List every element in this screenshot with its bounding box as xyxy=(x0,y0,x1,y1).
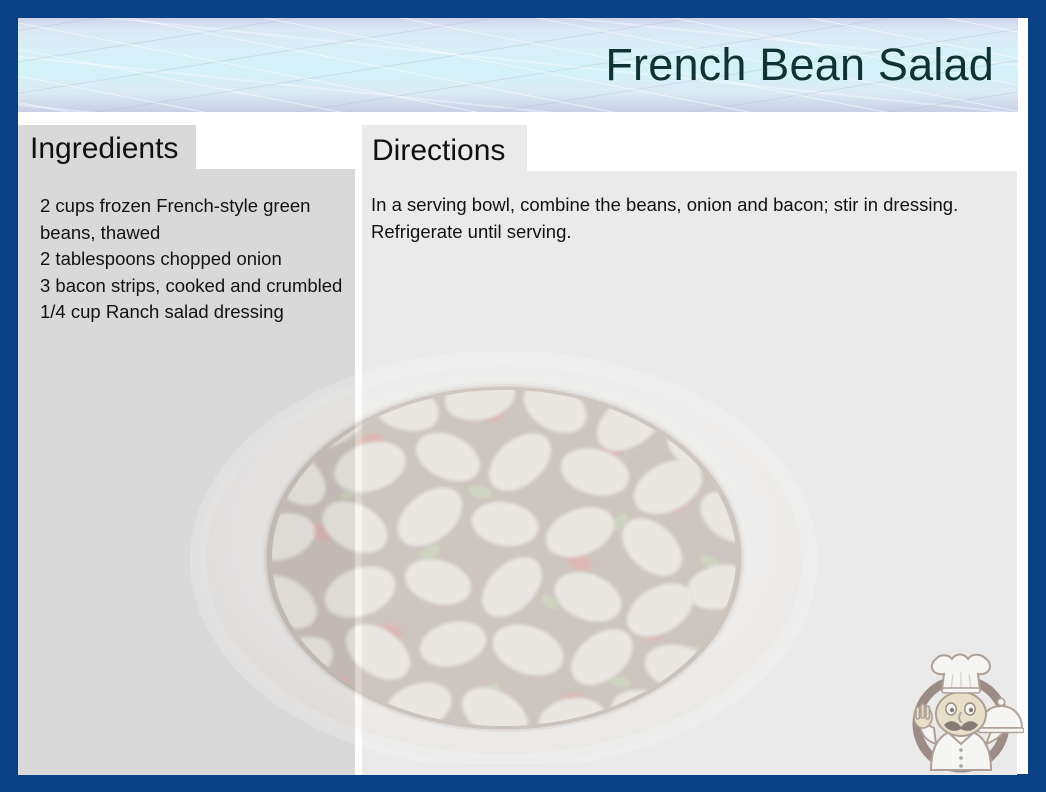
frame-border-left xyxy=(0,0,18,792)
recipe-card-slide: French Bean Salad Ingredients 2 cups fro… xyxy=(0,0,1046,792)
frame-border-bottom xyxy=(0,774,1046,792)
frame-border-top xyxy=(0,0,1046,18)
list-item: 1/4 cup Ranch salad dressing xyxy=(40,299,345,326)
list-item: 3 bacon strips, cooked and crumbled xyxy=(40,273,345,300)
page-title: French Bean Salad xyxy=(605,39,994,91)
directions-text: In a serving bowl, combine the beans, on… xyxy=(371,192,971,245)
list-item: 2 cups frozen French-style green beans, … xyxy=(40,193,345,246)
ingredients-list: 2 cups frozen French-style green beans, … xyxy=(40,193,345,326)
header-banner: French Bean Salad xyxy=(18,18,1018,112)
directions-panel: Directions In a serving bowl, combine th… xyxy=(362,125,1017,775)
ingredients-panel: Ingredients 2 cups frozen French-style g… xyxy=(18,125,355,775)
directions-heading: Directions xyxy=(372,134,505,168)
directions-tab-notch xyxy=(527,125,1017,171)
ingredients-tab-notch xyxy=(196,125,355,169)
panel-divider xyxy=(355,125,362,775)
ingredients-heading: Ingredients xyxy=(30,132,178,166)
list-item: 2 tablespoons chopped onion xyxy=(40,246,345,273)
frame-border-right xyxy=(1028,0,1046,792)
direction-step: In a serving bowl, combine the beans, on… xyxy=(371,192,971,245)
